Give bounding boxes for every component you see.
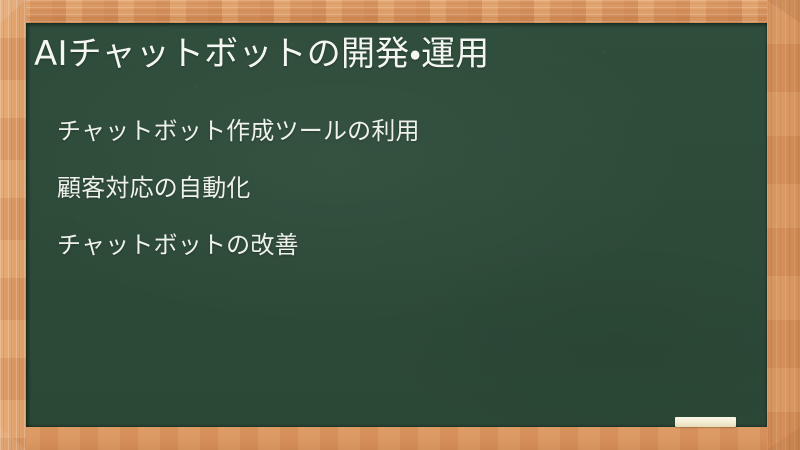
slide-content: AIチャットボットの開発・運用 チャットボット作成ツールの利用 顧客対応の自動化… <box>26 23 767 427</box>
frame-rail-bottom <box>0 427 800 450</box>
bullet-list: チャットボット作成ツールの利用 顧客対応の自動化 チャットボットの改善 <box>57 103 747 274</box>
bullet-item-1: チャットボット作成ツールの利用 <box>57 103 747 160</box>
frame-rail-left <box>0 0 26 450</box>
blackboard-slide: AIチャットボットの開発・運用 チャットボット作成ツールの利用 顧客対応の自動化… <box>0 0 800 450</box>
bullet-item-2: 顧客対応の自動化 <box>57 160 747 217</box>
chalk-stick <box>675 417 736 427</box>
frame-rail-top <box>0 0 800 23</box>
bullet-item-3: チャットボットの改善 <box>57 217 747 274</box>
slide-title: AIチャットボットの開発・運用 <box>34 31 490 77</box>
chalkboard-surface: AIチャットボットの開発・運用 チャットボット作成ツールの利用 顧客対応の自動化… <box>26 23 767 427</box>
frame-rail-right <box>767 0 800 450</box>
